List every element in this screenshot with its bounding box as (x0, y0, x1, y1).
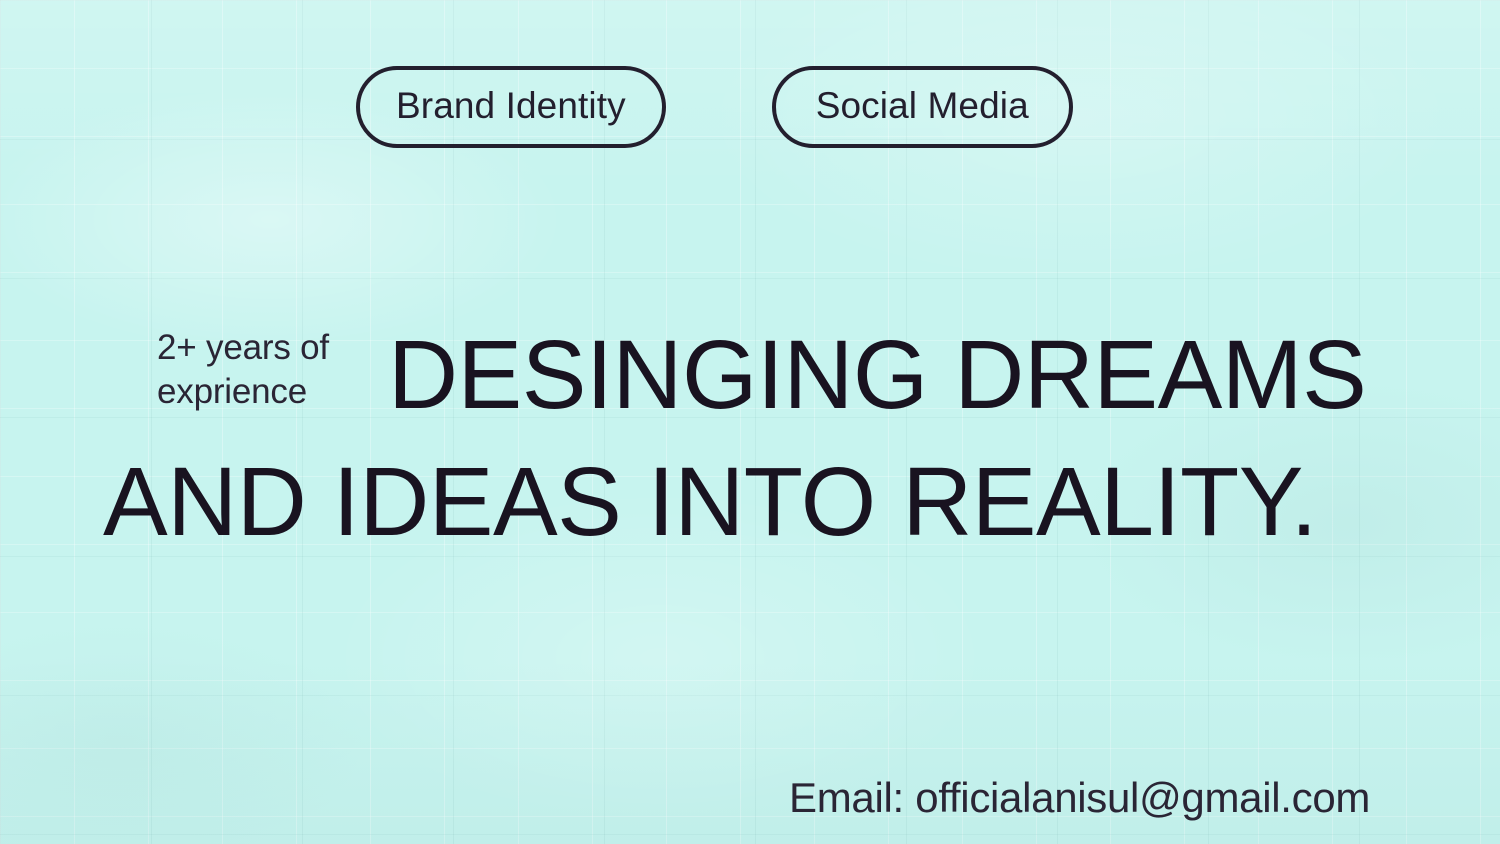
badge-social-media[interactable]: Social Media (772, 66, 1073, 148)
experience-kicker-line-2: exprience (157, 370, 389, 414)
experience-kicker: 2+ years of exprience (157, 326, 389, 414)
badge-brand-identity[interactable]: Brand Identity (356, 66, 666, 148)
headline-line-1: DESINGING DREAMS (388, 326, 1366, 423)
contact-email[interactable]: Email: officialanisul@gmail.com (789, 777, 1370, 819)
experience-kicker-line-1: 2+ years of (157, 326, 389, 370)
headline-line-2: AND IDEAS INTO REALITY. (103, 453, 1317, 550)
service-badges: Brand Identity Social Media (356, 66, 1073, 148)
portfolio-banner: Brand Identity Social Media 2+ years of … (0, 0, 1500, 844)
